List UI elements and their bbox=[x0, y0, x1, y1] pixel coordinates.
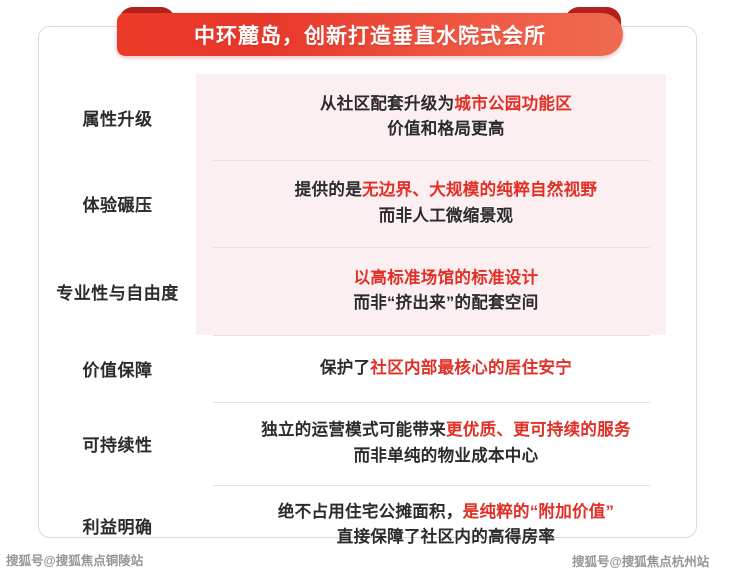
row-value-line: 而非人工微缩景观 bbox=[210, 204, 682, 229]
emphasis-text: 城市公园功能区 bbox=[454, 95, 572, 113]
row-value: 以高标准场馆的标准设计而非“挤出来”的配套空间 bbox=[196, 266, 696, 316]
row-label: 价值保障 bbox=[39, 356, 196, 381]
emphasis-text: 以高标准场馆的标准设计 bbox=[354, 269, 539, 287]
plain-text: 价值和格局更高 bbox=[387, 120, 505, 138]
plain-text: 提供的是 bbox=[295, 181, 362, 199]
row-value: 绝不占用住宅公摊面积，是纯粹的“附加价值”直接保障了社区内的高得房率 bbox=[196, 500, 696, 550]
row-label: 可持续性 bbox=[39, 431, 196, 456]
plain-text: 而非“挤出来”的配套空间 bbox=[353, 294, 538, 312]
plain-text: 独立的运营模式可能带来 bbox=[261, 421, 446, 439]
banner: 中环麓岛，创新打造垂直水院式会所 bbox=[117, 7, 623, 56]
emphasis-text: 更优质、更可持续的服务 bbox=[446, 421, 631, 439]
emphasis-text: 是纯粹的“附加价值” bbox=[463, 503, 615, 521]
plain-text: 从社区配套升级为 bbox=[320, 95, 454, 113]
plain-text: 直接保障了社区内的高得房率 bbox=[337, 528, 555, 546]
row-value: 提供的是无边界、大规模的纯粹自然视野而非人工微缩景观 bbox=[196, 178, 696, 228]
plain-text: 保护了 bbox=[320, 359, 370, 377]
row-label: 属性升级 bbox=[39, 105, 196, 130]
row-value-line: 而非单纯的物业成本中心 bbox=[210, 444, 682, 469]
table-row: 价值保障保护了社区内部最核心的居住安宁 bbox=[39, 335, 696, 402]
row-label: 利益明确 bbox=[39, 513, 196, 538]
row-value-line: 而非“挤出来”的配套空间 bbox=[210, 291, 682, 316]
table-row: 专业性与自由度以高标准场馆的标准设计而非“挤出来”的配套空间 bbox=[39, 247, 696, 335]
page-root: 属性升级从社区配套升级为城市公园功能区价值和格局更高体验碾压提供的是无边界、大规… bbox=[0, 0, 740, 577]
emphasis-text: 社区内部最核心的居住安宁 bbox=[370, 359, 572, 377]
table-row: 可持续性独立的运营模式可能带来更优质、更可持续的服务而非单纯的物业成本中心 bbox=[39, 402, 696, 485]
row-value-line: 保护了社区内部最核心的居住安宁 bbox=[210, 356, 682, 381]
row-value-line: 以高标准场馆的标准设计 bbox=[210, 266, 682, 291]
watermark-bottom-left: 搜狐号@搜狐焦点铜陵站 bbox=[6, 550, 143, 569]
plain-text: 绝不占用住宅公摊面积， bbox=[278, 503, 463, 521]
banner-ribbon: 中环麓岛，创新打造垂直水院式会所 bbox=[117, 13, 623, 56]
comparison-table: 属性升级从社区配套升级为城市公园功能区价值和格局更高体验碾压提供的是无边界、大规… bbox=[39, 27, 696, 537]
row-value-line: 独立的运营模式可能带来更优质、更可持续的服务 bbox=[210, 418, 682, 443]
table-row: 体验碾压提供的是无边界、大规模的纯粹自然视野而非人工微缩景观 bbox=[39, 160, 696, 247]
plain-text: 而非人工微缩景观 bbox=[379, 207, 513, 225]
row-value-line: 价值和格局更高 bbox=[210, 117, 682, 142]
banner-title: 中环麓岛，创新打造垂直水院式会所 bbox=[194, 20, 546, 50]
plain-text: 而非单纯的物业成本中心 bbox=[354, 447, 539, 465]
row-value-line: 从社区配套升级为城市公园功能区 bbox=[210, 92, 682, 117]
row-value-line: 直接保障了社区内的高得房率 bbox=[210, 525, 682, 550]
row-value: 保护了社区内部最核心的居住安宁 bbox=[196, 356, 696, 381]
emphasis-text: 无边界、大规模的纯粹自然视野 bbox=[362, 181, 597, 199]
row-label: 体验碾压 bbox=[39, 191, 196, 216]
table-row: 属性升级从社区配套升级为城市公园功能区价值和格局更高 bbox=[39, 74, 696, 160]
row-value-line: 绝不占用住宅公摊面积，是纯粹的“附加价值” bbox=[210, 500, 682, 525]
row-label: 专业性与自由度 bbox=[39, 279, 196, 304]
row-value: 从社区配套升级为城市公园功能区价值和格局更高 bbox=[196, 92, 696, 142]
watermark-bottom-right: 搜狐号@搜狐焦点杭州站 bbox=[572, 551, 709, 570]
row-value: 独立的运营模式可能带来更优质、更可持续的服务而非单纯的物业成本中心 bbox=[196, 418, 696, 468]
row-value-line: 提供的是无边界、大规模的纯粹自然视野 bbox=[210, 178, 682, 203]
